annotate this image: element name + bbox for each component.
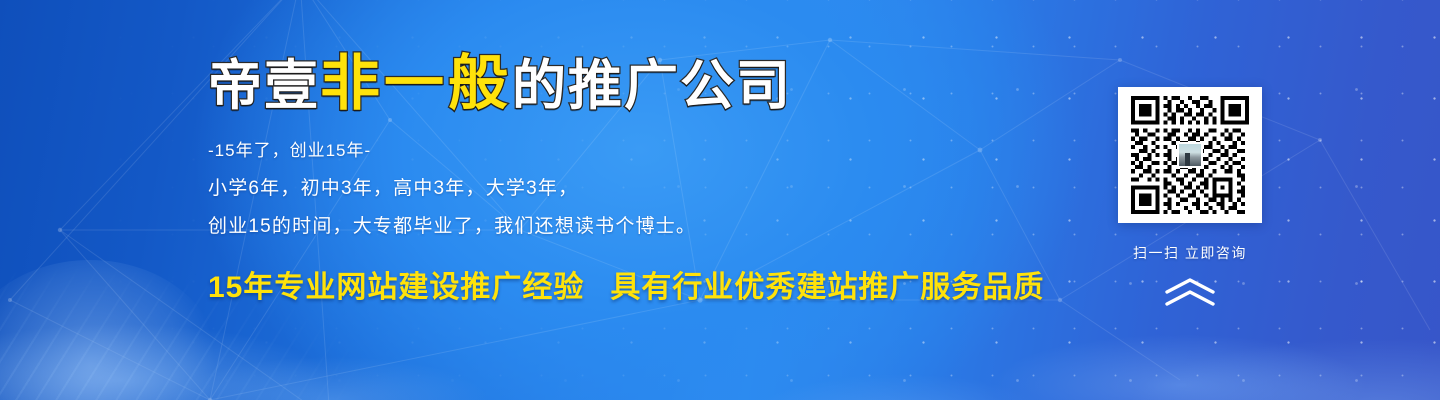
- headline-part-2: 的推广公司: [512, 56, 792, 116]
- qr-center-logo-icon: [1177, 142, 1203, 168]
- tagline-left: 15年专业网站建设推广经验: [208, 271, 584, 304]
- banner-copy: 帝壹非一般的推广公司 -15年了，创业15年- 小学6年，初中3年，高中3年，大…: [208, 52, 1068, 306]
- scroll-up-button[interactable]: [1118, 277, 1262, 307]
- qr-caption: 扫一扫 立即咨询: [1118, 243, 1262, 263]
- promo-banner: 帝壹非一般的推广公司 -15年了，创业15年- 小学6年，初中3年，高中3年，大…: [0, 0, 1440, 400]
- qr-block: 扫一扫 立即咨询: [1118, 87, 1262, 307]
- subtitle-line-1: -15年了，创业15年-: [208, 132, 1068, 170]
- tagline-right: 具有行业优秀建站推广服务品质: [610, 271, 1044, 304]
- headline-highlight: 非一般: [320, 50, 512, 117]
- double-chevron-up-icon: [1163, 277, 1217, 307]
- qr-code[interactable]: [1131, 96, 1249, 214]
- tagline: 15年专业网站建设推广经验具有行业优秀建站推广服务品质: [208, 262, 1068, 306]
- headline-part-1: 帝壹: [208, 56, 320, 116]
- qr-code-panel[interactable]: [1118, 87, 1262, 223]
- subtitle-line-3: 创业15的时间，大专都毕业了，我们还想读书个博士。: [208, 208, 1068, 246]
- subtitle-line-2: 小学6年，初中3年，高中3年，大学3年，: [208, 170, 1068, 208]
- page-title: 帝壹非一般的推广公司: [208, 52, 1068, 118]
